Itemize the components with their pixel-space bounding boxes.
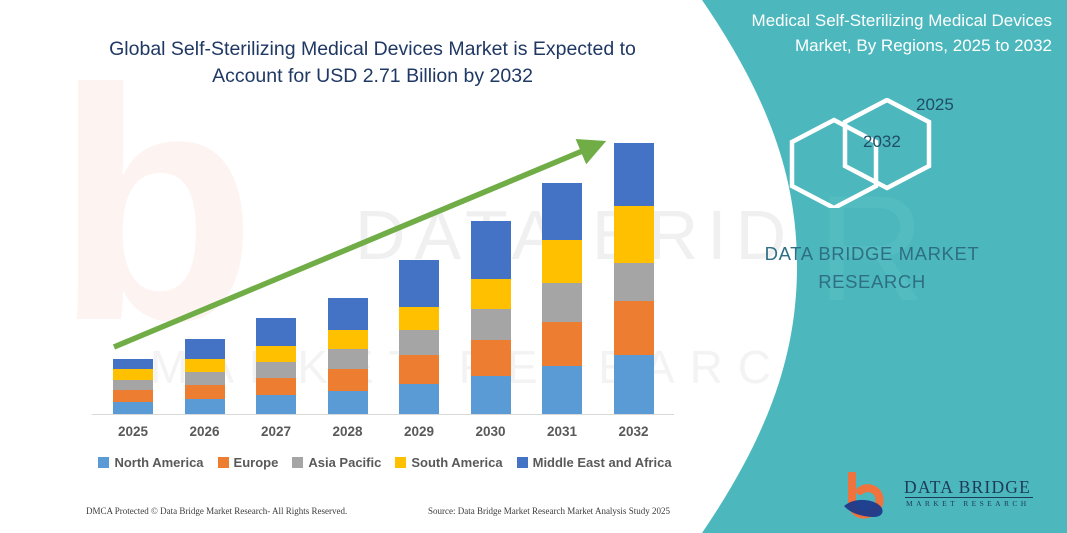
legend-swatch-icon [292, 457, 303, 468]
bar-segment[interactable] [185, 385, 225, 400]
x-axis-label-2029: 2029 [384, 424, 454, 439]
bridge-logo-icon [842, 472, 900, 520]
bar-segment[interactable] [185, 359, 225, 372]
x-axis-label-2025: 2025 [98, 424, 168, 439]
chart-legend: North AmericaEuropeAsia PacificSouth Ame… [95, 455, 675, 470]
legend-swatch-icon [98, 457, 109, 468]
bar-segment[interactable] [614, 355, 654, 415]
bar-segment[interactable] [256, 362, 296, 378]
x-axis-label-2028: 2028 [313, 424, 383, 439]
x-axis-labels: 20252026202720282029203020312032 [92, 424, 677, 444]
x-axis-label-2031: 2031 [527, 424, 597, 439]
bar-segment[interactable] [113, 380, 153, 391]
footer-copyright: DMCA Protected © Data Bridge Market Rese… [86, 506, 347, 516]
legend-label: South America [411, 455, 502, 470]
panel-title: Medical Self-Sterilizing Medical Devices… [722, 8, 1052, 58]
company-logo: DATA BRIDGE MARKET RESEARCH [842, 472, 1052, 522]
bar-segment[interactable] [256, 378, 296, 396]
legend-item[interactable]: South America [395, 455, 502, 470]
hexagon-icons [787, 98, 987, 208]
legend-item[interactable]: North America [98, 455, 203, 470]
bar-segment[interactable] [471, 376, 511, 415]
legend-label: Middle East and Africa [533, 455, 672, 470]
bar-segment[interactable] [328, 391, 368, 415]
legend-swatch-icon [218, 457, 229, 468]
trend-arrow-icon [110, 125, 620, 355]
brand-line-1: DATA BRIDGE MARKET [727, 240, 1017, 268]
x-axis-label-2032: 2032 [599, 424, 669, 439]
brand-line-2: RESEARCH [727, 268, 1017, 296]
legend-label: Asia Pacific [308, 455, 381, 470]
bar-segment[interactable] [542, 366, 582, 415]
x-axis-label-2030: 2030 [456, 424, 526, 439]
bar-segment[interactable] [185, 372, 225, 385]
hex-label-2025: 2025 [916, 95, 954, 115]
bar-segment[interactable] [399, 384, 439, 415]
x-axis-label-2026: 2026 [170, 424, 240, 439]
brand-name: DATA BRIDGE MARKET RESEARCH [727, 240, 1017, 296]
legend-item[interactable]: Europe [218, 455, 279, 470]
bar-segment[interactable] [113, 359, 153, 369]
bar-2025[interactable] [113, 359, 153, 415]
legend-label: Europe [234, 455, 279, 470]
hex-label-2032: 2032 [863, 132, 901, 152]
legend-swatch-icon [395, 457, 406, 468]
infographic-page: b DATA BRIDGE MARKET RESEARCH Global Sel… [0, 0, 1067, 533]
x-axis-label-2027: 2027 [241, 424, 311, 439]
chart-title: Global Self-Sterilizing Medical Devices … [95, 36, 650, 90]
legend-swatch-icon [517, 457, 528, 468]
bar-segment[interactable] [185, 399, 225, 415]
legend-label: North America [114, 455, 203, 470]
legend-item[interactable]: Asia Pacific [292, 455, 381, 470]
teal-side-panel: R Medical Self-Sterilizing Medical Devic… [667, 0, 1067, 533]
logo-text-sub: MARKET RESEARCH [906, 499, 1030, 508]
legend-item[interactable]: Middle East and Africa [517, 455, 672, 470]
bar-segment[interactable] [113, 369, 153, 380]
logo-text-main: DATA BRIDGE [904, 477, 1031, 498]
hexagon-badges: 2032 2025 [787, 98, 987, 208]
bar-segment[interactable] [113, 390, 153, 402]
logo-divider [905, 497, 1033, 498]
bar-segment[interactable] [399, 355, 439, 384]
bar-segment[interactable] [328, 369, 368, 392]
bar-segment[interactable] [256, 395, 296, 415]
footer-source: Source: Data Bridge Market Research Mark… [428, 506, 670, 516]
x-axis-line [92, 414, 674, 415]
